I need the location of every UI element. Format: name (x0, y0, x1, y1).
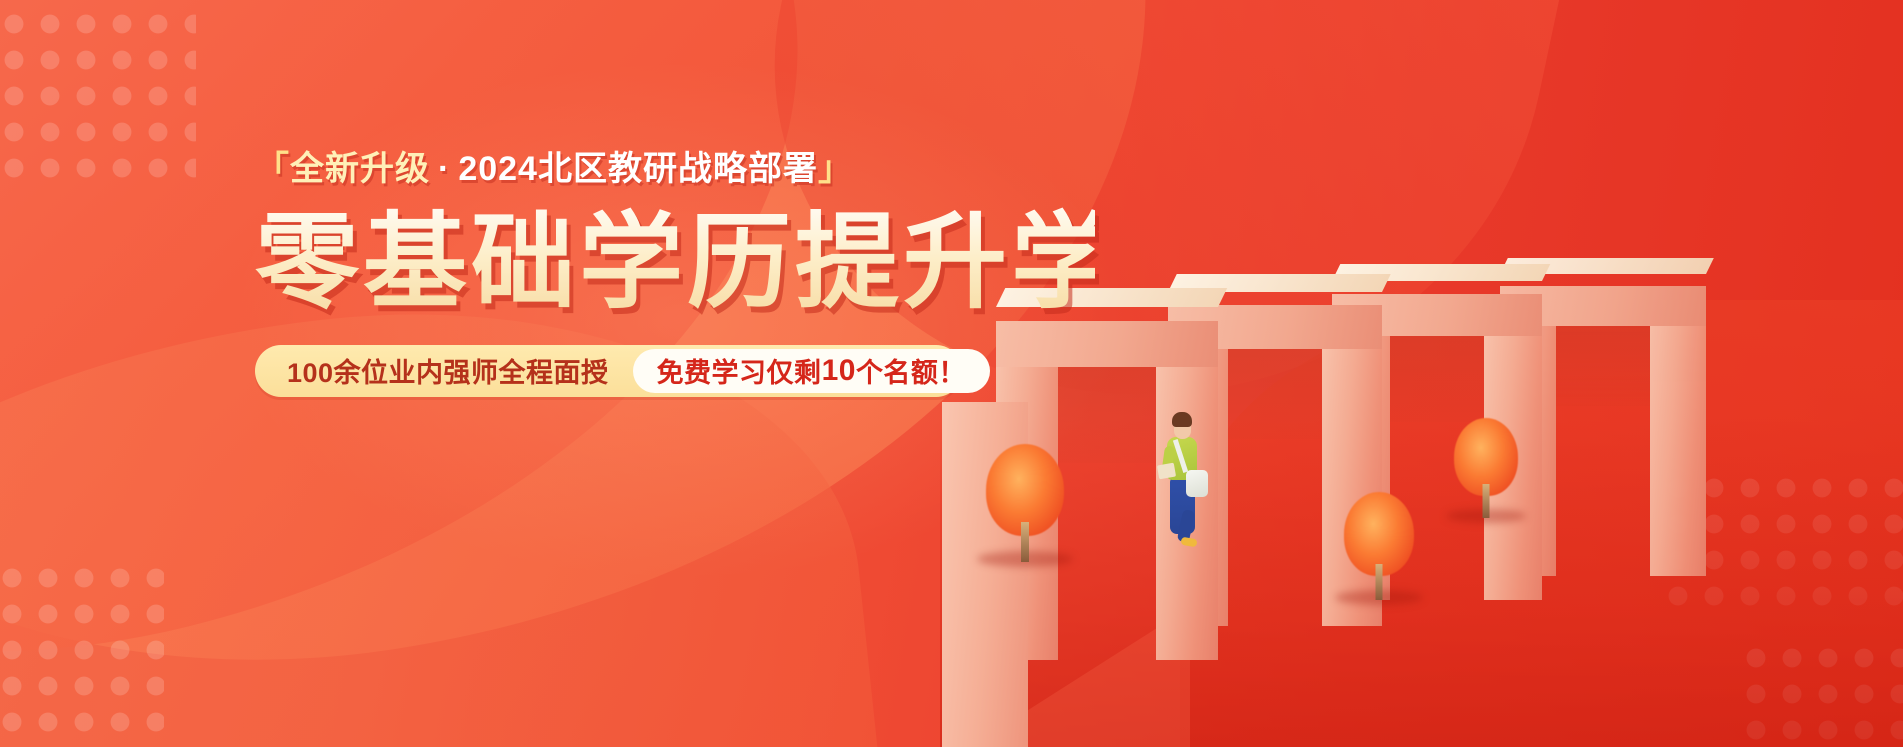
dot-pattern-top-left (0, 6, 196, 192)
tree-middle-icon (1344, 492, 1414, 600)
badge-seats-prefix: 免费学习仅剩 (657, 351, 822, 390)
student-figure-icon (1150, 412, 1214, 548)
subtitle-open-bracket: 「 (255, 150, 290, 188)
badge-teachers: 100余位业内强师全程面授 (255, 351, 631, 390)
badge-seats-suffix: 个名额！ (856, 351, 966, 390)
badge-seats-count: 10 (822, 354, 856, 388)
tree-right-icon (1454, 418, 1518, 518)
page-title: 零基础学历提升学霸班 (255, 207, 1095, 319)
dot-pattern-bottom-left (0, 560, 164, 747)
subtitle: 「全新升级·2024北区教研战略部署」 (255, 148, 1095, 191)
badge-seats-remaining[interactable]: 免费学习仅剩10个名额！ (633, 349, 990, 393)
subtitle-separator: · (430, 150, 458, 188)
subtitle-close-bracket: 」 (818, 150, 853, 188)
subtitle-accent: 全新升级 (290, 150, 430, 188)
copy-block: 「全新升级·2024北区教研战略部署」 零基础学历提升学霸班 100余位业内强师… (255, 148, 1095, 397)
promo-banner: 「全新升级·2024北区教研战略部署」 零基础学历提升学霸班 100余位业内强师… (0, 0, 1903, 747)
subtitle-rest: 2024北区教研战略部署 (458, 150, 818, 188)
badge-bar: 100余位业内强师全程面授 免费学习仅剩10个名额！ (255, 345, 962, 397)
tree-left-icon (986, 444, 1064, 562)
